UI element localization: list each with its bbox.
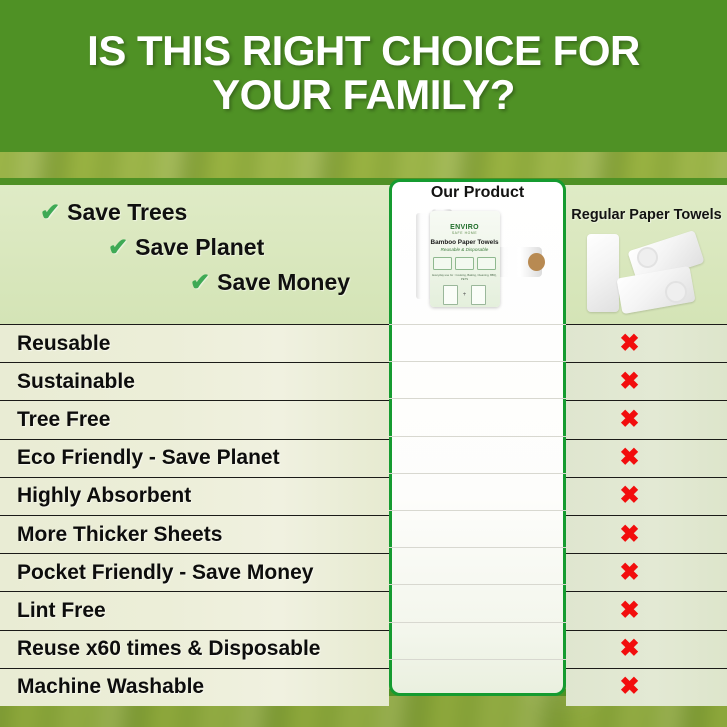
competitor-cell: ✖ xyxy=(549,561,710,585)
table-row: Reusable ✔ ✖ xyxy=(0,324,727,362)
product-cell: ✔ xyxy=(372,408,549,432)
table-row: Pocket Friendly - Save Money ✔ ✖ xyxy=(0,553,727,591)
check-icon: ✔ xyxy=(450,408,470,432)
cross-icon: ✖ xyxy=(619,599,639,623)
page-title: IS THIS RIGHT CHOICE FOR YOUR FAMILY? xyxy=(87,29,640,116)
check-icon: ✔ xyxy=(450,332,470,356)
table-row: Highly Absorbent ✔ ✖ xyxy=(0,477,727,515)
benefit-label: Save Money xyxy=(217,269,350,296)
product-cell: ✔ xyxy=(372,332,549,356)
brand-tagline: SAFE HOME xyxy=(430,231,500,235)
check-icon: ✔ xyxy=(190,271,210,295)
check-icon: ✔ xyxy=(450,637,470,661)
feature-label: Tree Free xyxy=(0,408,372,432)
product-cell: ✔ xyxy=(372,561,549,585)
product-subtitle: Reusable & Disposable xyxy=(430,247,500,252)
check-icon: ✔ xyxy=(40,201,60,225)
competitor-cell: ✖ xyxy=(549,599,710,623)
product-cell: ✔ xyxy=(372,523,549,547)
table-row: Lint Free ✔ ✖ xyxy=(0,591,727,629)
product-name: Bamboo Paper Towels xyxy=(430,239,500,246)
cross-icon: ✖ xyxy=(619,446,639,470)
check-icon: ✔ xyxy=(450,484,470,508)
product-pack-image: ENVIRO SAFE HOME Bamboo Paper Towels Reu… xyxy=(398,203,558,313)
product-column-label: Our Product xyxy=(431,184,524,202)
check-icon: ✔ xyxy=(450,561,470,585)
feature-label: Pocket Friendly - Save Money xyxy=(0,561,372,585)
table-row: Eco Friendly - Save Planet ✔ ✖ xyxy=(0,439,727,477)
divider-top xyxy=(0,178,727,185)
check-icon: ✔ xyxy=(108,236,128,260)
table-row: Reuse x60 times & Disposable ✔ ✖ xyxy=(0,630,727,668)
cross-icon: ✖ xyxy=(619,484,639,508)
competitor-cell: ✖ xyxy=(549,370,710,394)
check-icon: ✔ xyxy=(450,446,470,470)
table-row: Sustainable ✔ ✖ xyxy=(0,362,727,400)
cross-icon: ✖ xyxy=(619,637,639,661)
page-title-line-1: IS THIS RIGHT CHOICE FOR xyxy=(87,29,640,73)
feature-label: Machine Washable xyxy=(0,675,372,699)
badge-icon xyxy=(433,257,452,270)
cross-icon: ✖ xyxy=(619,561,639,585)
comparison-poster: IS THIS RIGHT CHOICE FOR YOUR FAMILY? ✔ … xyxy=(0,0,727,727)
product-cell: ✔ xyxy=(372,484,549,508)
competitor-cell: ✖ xyxy=(549,637,710,661)
competitor-column-label: Regular Paper Towels xyxy=(571,207,721,223)
pictogram-icon xyxy=(471,285,486,305)
product-package: ENVIRO SAFE HOME Bamboo Paper Towels Reu… xyxy=(430,211,500,307)
badge-icon xyxy=(477,257,496,270)
table-row: Tree Free ✔ ✖ xyxy=(0,400,727,438)
product-cell: ✔ xyxy=(372,637,549,661)
cross-icon: ✖ xyxy=(619,523,639,547)
feature-label: Highly Absorbent xyxy=(0,484,372,508)
competitor-cell: ✖ xyxy=(549,408,710,432)
product-cell: ✖ xyxy=(372,675,549,699)
competitor-cell: ✖ xyxy=(549,675,710,699)
package-fine-print: Everyday use for : Cooking, Baking, Clea… xyxy=(430,273,500,281)
competitor-cell: ✖ xyxy=(549,523,710,547)
feature-label: Reuse x60 times & Disposable xyxy=(0,637,372,661)
brand-name: ENVIRO xyxy=(430,224,500,231)
feature-label: Eco Friendly - Save Planet xyxy=(0,446,372,470)
cross-icon: ✖ xyxy=(450,675,470,699)
product-column-header: Our Product ENVIRO SAFE HOME Bamboo Pape… xyxy=(389,179,566,324)
package-pictograms: + xyxy=(430,285,500,305)
check-icon: ✔ xyxy=(450,523,470,547)
page-title-line-2: YOUR FAMILY? xyxy=(87,73,640,117)
product-cell: ✔ xyxy=(372,599,549,623)
competitor-cell: ✖ xyxy=(549,484,710,508)
table-row: Machine Washable ✖ ✖ xyxy=(0,668,727,706)
cross-icon: ✖ xyxy=(619,675,639,699)
badge-icon xyxy=(455,257,474,270)
feature-label: Sustainable xyxy=(0,370,372,394)
competitor-cell: ✖ xyxy=(549,446,710,470)
cross-icon: ✖ xyxy=(619,408,639,432)
feature-label: Reusable xyxy=(0,332,372,356)
competitor-column-header: Regular Paper Towels xyxy=(566,185,727,324)
table-row: More Thicker Sheets ✔ ✖ xyxy=(0,515,727,553)
pictogram-icon xyxy=(443,285,458,305)
benefit-label: Save Planet xyxy=(135,234,264,261)
product-cell: ✔ xyxy=(372,370,549,394)
product-cell: ✔ xyxy=(372,446,549,470)
comparison-table: Reusable ✔ ✖ Sustainable ✔ ✖ Tree Free ✔… xyxy=(0,324,727,706)
feature-label: Lint Free xyxy=(0,599,372,623)
benefit-label: Save Trees xyxy=(67,199,187,226)
competitor-product-image xyxy=(579,226,714,321)
check-icon: ✔ xyxy=(450,599,470,623)
header-banner: IS THIS RIGHT CHOICE FOR YOUR FAMILY? xyxy=(0,0,727,152)
check-icon: ✔ xyxy=(450,370,470,394)
cross-icon: ✖ xyxy=(619,332,639,356)
feature-label: More Thicker Sheets xyxy=(0,523,372,547)
competitor-cell: ✖ xyxy=(549,332,710,356)
cross-icon: ✖ xyxy=(619,370,639,394)
package-badges xyxy=(430,257,500,270)
